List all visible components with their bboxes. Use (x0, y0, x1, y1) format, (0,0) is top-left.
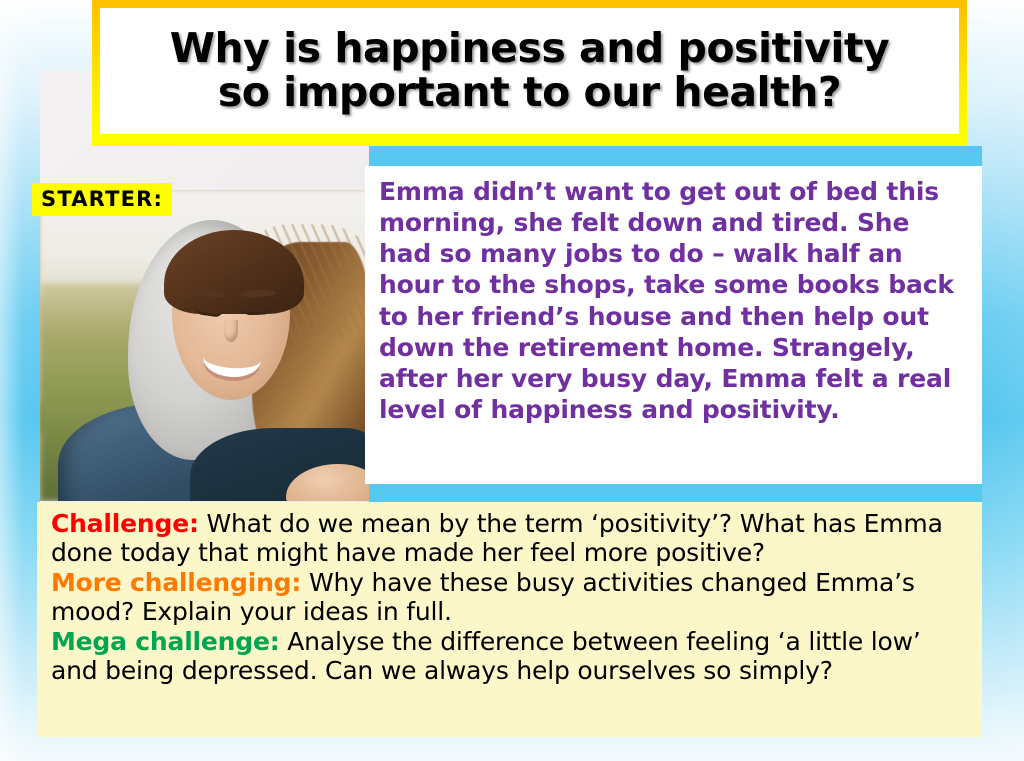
story-text: Emma didn’t want to get out of bed this … (379, 176, 968, 425)
more-challenging-label: More challenging: (51, 568, 301, 597)
challenge-panel: Challenge: What do we mean by the term ‘… (37, 502, 982, 737)
mega-challenge-label: Mega challenge: (51, 627, 280, 656)
starter-label: STARTER: (32, 183, 172, 216)
mega-challenge-item: Mega challenge: Analyse the difference b… (51, 627, 970, 686)
title-frame: Why is happiness and positivity so impor… (92, 0, 967, 146)
title-inner-box: Why is happiness and positivity so impor… (100, 8, 959, 134)
story-box: Emma didn’t want to get out of bed this … (365, 166, 982, 484)
page-title-line-1: Why is happiness and positivity (170, 27, 890, 71)
student-photo (40, 190, 369, 501)
page-title-line-2: so important to our health? (218, 71, 841, 115)
challenge-item: Challenge: What do we mean by the term ‘… (51, 509, 970, 568)
challenge-label: Challenge: (51, 509, 199, 538)
more-challenging-item: More challenging: Why have these busy ac… (51, 568, 970, 627)
slide-canvas: Why is happiness and positivity so impor… (0, 0, 1024, 761)
